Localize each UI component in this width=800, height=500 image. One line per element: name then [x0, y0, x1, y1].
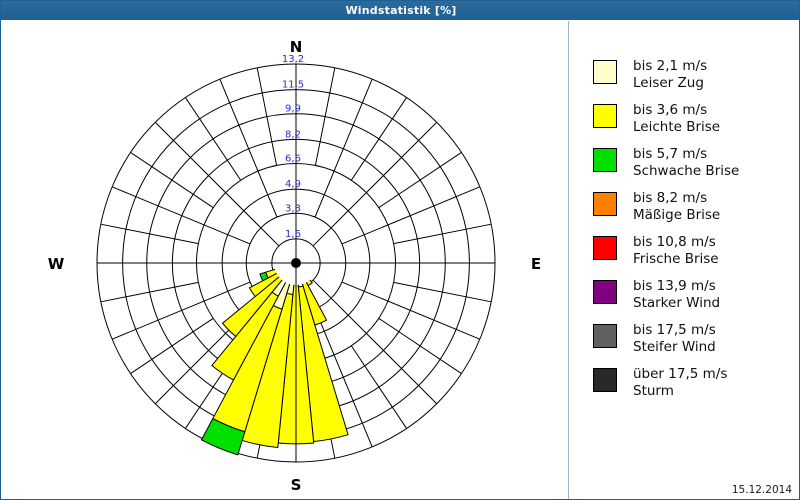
legend-item: bis 17,5 m/sSteifer Wind	[580, 322, 800, 366]
legend-swatch	[593, 324, 617, 348]
legend-item: über 17,5 m/sSturm	[580, 366, 800, 410]
radial-tick-label: 9,9	[285, 104, 301, 115]
legend-label: bis 13,9 m/sStarker Wind	[633, 278, 720, 312]
legend-item: bis 5,7 m/sSchwache Brise	[580, 146, 800, 190]
legend-speed: bis 10,8 m/s	[633, 234, 719, 251]
grid-spoke-9	[394, 282, 492, 301]
legend-item: bis 10,8 m/sFrische Brise	[580, 234, 800, 278]
window-title: Windstatistik [%]	[345, 4, 456, 17]
grid-spoke-2	[315, 79, 372, 217]
legend-name: Steifer Wind	[633, 339, 716, 356]
radial-tick-label: 3,3	[285, 203, 301, 214]
legend-item: bis 3,6 m/sLeichte Brise	[580, 102, 800, 146]
legend-name: Mäßige Brise	[633, 207, 720, 224]
legend-swatch	[593, 236, 617, 260]
wind-rose-chart: 1,63,34,96,68,29,911,513,2NSWE	[2, 21, 570, 500]
legend-name: Schwache Brise	[633, 163, 739, 180]
legend-label: über 17,5 m/sSturm	[633, 366, 727, 400]
legend-speed: bis 3,6 m/s	[633, 102, 720, 119]
grid-spoke-31	[257, 68, 276, 166]
grid-spoke-26	[112, 187, 250, 244]
legend-name: Starker Wind	[633, 295, 720, 312]
legend-label: bis 2,1 m/sLeiser Zug	[633, 58, 707, 92]
grid-spoke-4	[313, 122, 437, 246]
legend-label: bis 10,8 m/sFrische Brise	[633, 234, 719, 268]
grid-spoke-30	[220, 79, 277, 217]
grid-spoke-25	[101, 224, 199, 243]
legend-swatch	[593, 104, 617, 128]
legend: bis 2,1 m/sLeiser Zugbis 3,6 m/sLeichte …	[580, 41, 800, 410]
legend-name: Leichte Brise	[633, 119, 720, 136]
legend-label: bis 3,6 m/sLeichte Brise	[633, 102, 720, 136]
legend-swatch	[593, 192, 617, 216]
grid-spoke-10	[342, 282, 480, 339]
legend-speed: bis 8,2 m/s	[633, 190, 720, 207]
grid-spoke-1	[315, 68, 334, 166]
legend-item: bis 2,1 m/sLeiser Zug	[580, 58, 800, 102]
legend-swatch	[593, 60, 617, 84]
radial-tick-label: 4,9	[285, 179, 301, 190]
legend-speed: bis 13,9 m/s	[633, 278, 720, 295]
window-titlebar: Windstatistik [%]	[1, 1, 800, 20]
compass-label-north: N	[290, 38, 303, 56]
legend-swatch	[593, 280, 617, 304]
legend-name: Frische Brise	[633, 251, 719, 268]
legend-speed: über 17,5 m/s	[633, 366, 727, 383]
wind-rose-svg: 1,63,34,96,68,29,911,513,2NSWE	[2, 21, 570, 500]
legend-name: Leiser Zug	[633, 75, 707, 92]
compass-label-west: W	[48, 255, 65, 273]
legend-label: bis 17,5 m/sSteifer Wind	[633, 322, 716, 356]
grid-spoke-6	[342, 187, 480, 244]
legend-speed: bis 5,7 m/s	[633, 146, 739, 163]
radial-tick-label: 6,6	[285, 154, 301, 165]
panel-divider	[568, 21, 569, 500]
legend-label: bis 5,7 m/sSchwache Brise	[633, 146, 739, 180]
radial-tick-label: 8,2	[285, 129, 301, 140]
windstatistik-window: Windstatistik [%] 1,63,34,96,68,29,911,5…	[0, 0, 800, 500]
grid-spoke-7	[394, 224, 492, 243]
legend-speed: bis 2,1 m/s	[633, 58, 707, 75]
datestamp: 15.12.2014	[732, 484, 792, 496]
legend-name: Sturm	[633, 383, 727, 400]
window-content: 1,63,34,96,68,29,911,513,2NSWE bis 2,1 m…	[2, 21, 800, 500]
grid-spoke-23	[101, 282, 199, 301]
legend-speed: bis 17,5 m/s	[633, 322, 716, 339]
petals	[201, 263, 348, 455]
legend-label: bis 8,2 m/sMäßige Brise	[633, 190, 720, 224]
radial-tick-label: 11,5	[282, 80, 304, 91]
legend-item: bis 13,9 m/sStarker Wind	[580, 278, 800, 322]
legend-swatch	[593, 148, 617, 172]
legend-swatch	[593, 368, 617, 392]
compass-label-south: S	[291, 476, 302, 494]
radial-tick-label: 1,6	[285, 229, 301, 240]
grid-spoke-28	[155, 122, 279, 246]
compass-label-east: E	[531, 255, 541, 273]
legend-item: bis 8,2 m/sMäßige Brise	[580, 190, 800, 234]
